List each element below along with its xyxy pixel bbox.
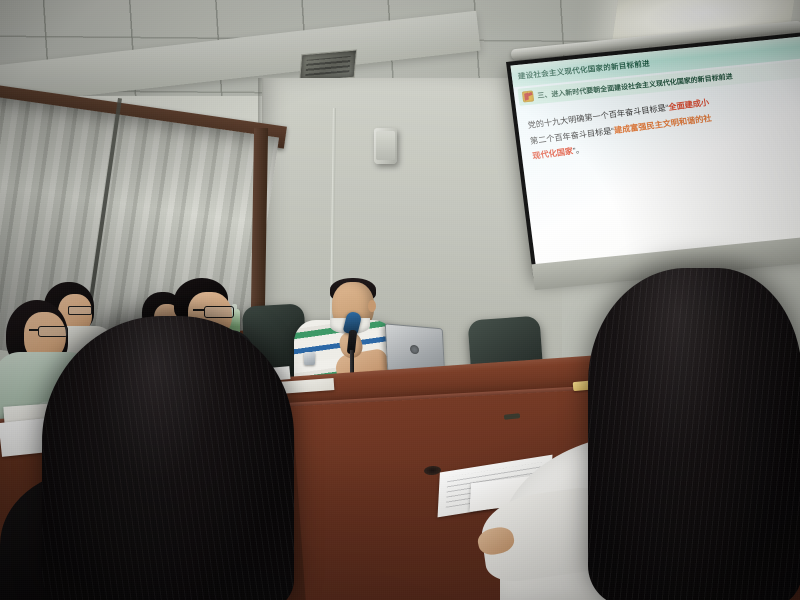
foreground-right-person-hair: [588, 268, 800, 600]
student-b-glasses-icon: [68, 306, 92, 315]
student-a-glasses-icon: [38, 326, 68, 337]
slide-line-3-plain-after: ”。: [572, 146, 584, 156]
photo-scene: 建设社会主义现代化国家的新目标前进 三、进入新时代要朝全面建设社会主义现代化国家…: [0, 0, 800, 600]
presenter-badge: [304, 352, 315, 365]
presenter-ear: [368, 300, 376, 312]
slide-line-3-highlight: 现代化国家: [532, 147, 574, 161]
slide-line-1-highlight: 全面建成小: [668, 98, 710, 112]
party-emblem-icon: [522, 90, 534, 102]
wall-speaker-icon: [374, 128, 397, 164]
foreground-left-person-hair: [42, 316, 294, 600]
laptop-logo: [410, 344, 419, 354]
projection-screen: 建设社会主义现代化国家的新目标前进 三、进入新时代要朝全面建设社会主义现代化国家…: [506, 32, 800, 290]
student-c-glasses-icon: [204, 306, 234, 318]
screen-surface: 建设社会主义现代化国家的新目标前进 三、进入新时代要朝全面建设社会主义现代化国家…: [510, 37, 800, 274]
